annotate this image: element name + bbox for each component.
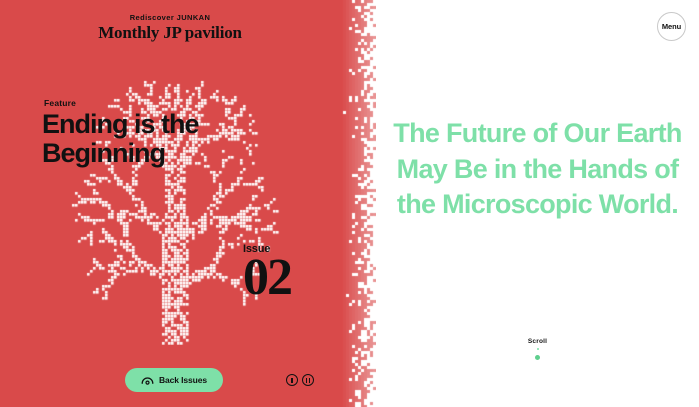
scroll-dot-small (537, 348, 539, 350)
scroll-label: Scroll (528, 338, 547, 345)
issue-number: 02 (243, 257, 291, 300)
arc-icon (141, 375, 154, 385)
feature-headline: Ending is the Beginning (42, 110, 272, 168)
feature-panel: Rediscover JUNKAN Monthly JP pavilion Fe… (0, 0, 340, 407)
media-controls (286, 374, 314, 386)
back-issues-button[interactable]: Back Issues (125, 368, 223, 392)
brand-wordmark: Monthly JP pavilion (0, 23, 340, 43)
pause-icon-second-bar (309, 378, 311, 383)
pause-control[interactable] (302, 374, 314, 386)
menu-button[interactable]: Menu (657, 12, 686, 41)
page-root: Rediscover JUNKAN Monthly JP pavilion Fe… (0, 0, 699, 407)
menu-button-label: Menu (662, 22, 681, 31)
brand-kicker: Rediscover JUNKAN (0, 13, 340, 22)
dither-transition-edge (340, 0, 376, 407)
scroll-indicator[interactable]: Scroll (376, 338, 699, 360)
pause-icon (306, 378, 308, 383)
back-issues-label: Back Issues (159, 375, 207, 385)
issue-block: Issue 02 (243, 243, 291, 300)
single-bar-icon (291, 378, 293, 383)
scroll-dot-large (535, 355, 540, 360)
play-control[interactable] (286, 374, 298, 386)
article-panel: Menu The Future of Our Earth May Be in t… (376, 0, 699, 407)
hero-title: The Future of Our Earth May Be in the Ha… (386, 116, 689, 223)
